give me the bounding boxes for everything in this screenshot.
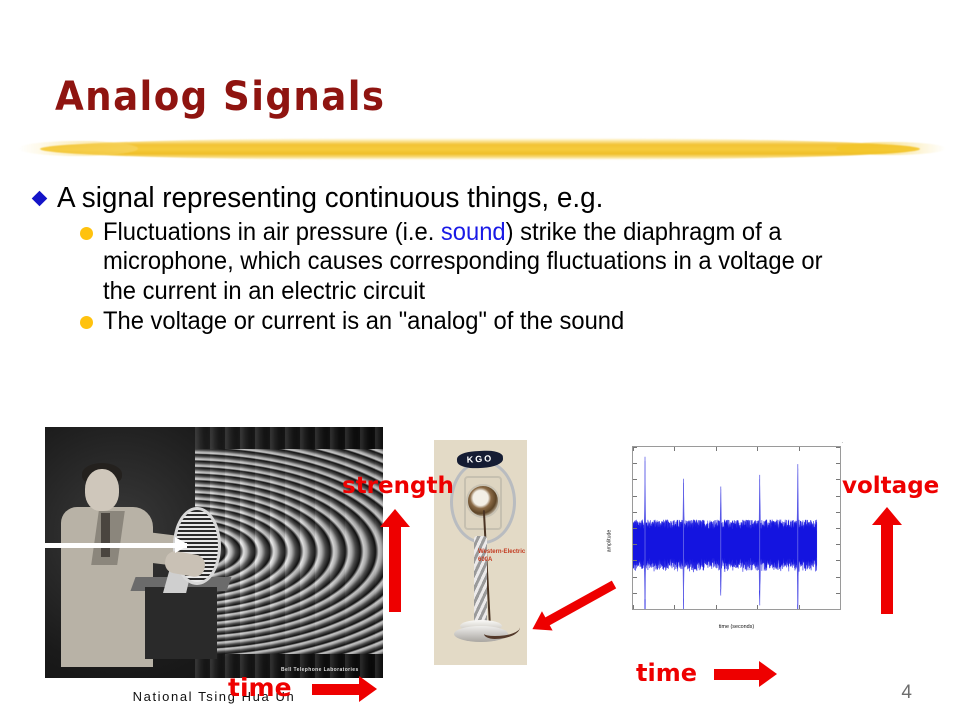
chart-y-tick (633, 560, 637, 561)
chart-y-tick-right (836, 609, 840, 610)
chart-y-tick-right (836, 560, 840, 561)
brush-stroke-decoration (40, 138, 920, 160)
man-head (85, 469, 119, 511)
chart-y-tick-right (836, 479, 840, 480)
chart-x-tick (840, 605, 841, 609)
microphone-model-line2: 600A (478, 556, 525, 564)
bullet-level2-label: The voltage or current is an "analog" of… (103, 307, 624, 337)
sub-bullet-text-before: Fluctuations in air pressure (i.e. (103, 218, 441, 246)
diamond-bullet-icon (32, 191, 48, 207)
bullet-level2-label: Fluctuations in air pressure (i.e. sound… (103, 218, 854, 307)
microphone-model-label: Western-Electric 600A (478, 548, 525, 564)
slide: Analog Signals A signal representing con… (0, 0, 960, 720)
sound-wave-photo: Bell Telephone Laboratories (45, 427, 383, 678)
chart-y-tick (633, 593, 637, 594)
chart-y-tick (633, 609, 637, 610)
arrow-up-voltage-icon (881, 522, 893, 614)
chart-y-tick (633, 528, 637, 529)
bullet-level2: The voltage or current is an "analog" of… (80, 307, 934, 337)
chart-x-tick-top (840, 447, 841, 451)
white-direction-arrow (45, 543, 187, 548)
bullet-level1: A signal representing continuous things,… (34, 182, 934, 216)
body-content: A signal representing continuous things,… (34, 182, 934, 337)
figure-row: Bell Telephone Laboratories National Tsi… (0, 418, 960, 720)
photo-credit: Bell Telephone Laboratories (281, 667, 359, 673)
chart-y-tick-right (836, 577, 840, 578)
chart-y-tick-right (836, 496, 840, 497)
chart-x-tick (757, 605, 758, 609)
annotation-voltage: voltage (842, 473, 939, 499)
chart-x-tick (799, 605, 800, 609)
waveform-series (633, 447, 840, 609)
man-tie (101, 513, 110, 557)
arrow-right-time-middle-icon (714, 669, 760, 680)
chart-y-tick (633, 577, 637, 578)
chart-y-tick-right (836, 593, 840, 594)
pedestal (145, 587, 217, 659)
chart-x-tick-top (716, 447, 717, 451)
chart-x-axis-label: time (seconds) (632, 624, 841, 630)
annotation-time-middle: time (636, 659, 697, 687)
slide-number: 4 (901, 682, 912, 704)
microphone-cord-coil (484, 622, 520, 639)
circle-bullet-icon (80, 316, 93, 329)
chart-y-tick (633, 463, 637, 464)
chart-y-tick-right (836, 463, 840, 464)
annotation-time-left: time (228, 673, 292, 702)
sound-highlight: sound (441, 218, 506, 246)
arrow-right-time-left-icon (312, 684, 360, 695)
chart-x-tick (674, 605, 675, 609)
bullet-level1-label: A signal representing continuous things,… (57, 182, 603, 216)
chart-y-tick (633, 479, 637, 480)
chart-y-tick (633, 512, 637, 513)
chart-y-tick-right (836, 512, 840, 513)
chart-x-tick-top (633, 447, 634, 451)
chart-y-tick (633, 544, 637, 545)
bullet-level2: Fluctuations in air pressure (i.e. sound… (80, 218, 934, 307)
arrow-up-strength-icon (389, 524, 401, 612)
title-area: Analog Signals (0, 78, 960, 173)
chart-x-tick-top (799, 447, 800, 451)
chart-x-tick (716, 605, 717, 609)
chart-plot-area: 0.030.0250.020.0150.010.0050-0.005-0.01-… (632, 446, 841, 610)
circle-bullet-icon (80, 227, 93, 240)
chart-x-tick-top (674, 447, 675, 451)
chart-x-tick (633, 605, 634, 609)
chart-x-tick-top (757, 447, 758, 451)
chart-y-tick-right (836, 544, 840, 545)
page-title: Analog Signals (55, 74, 385, 120)
waveform-chart: · amplitude 0.030.0250.020.0150.010.0050… (604, 438, 849, 644)
microphone-model-line1: Western-Electric (478, 548, 525, 556)
chart-y-tick-right (836, 528, 840, 529)
annotation-strength: strength (342, 473, 454, 499)
chart-y-axis-label: amplitude (606, 530, 612, 553)
chart-y-tick (633, 496, 637, 497)
chart-corner-tick: · (841, 440, 843, 446)
